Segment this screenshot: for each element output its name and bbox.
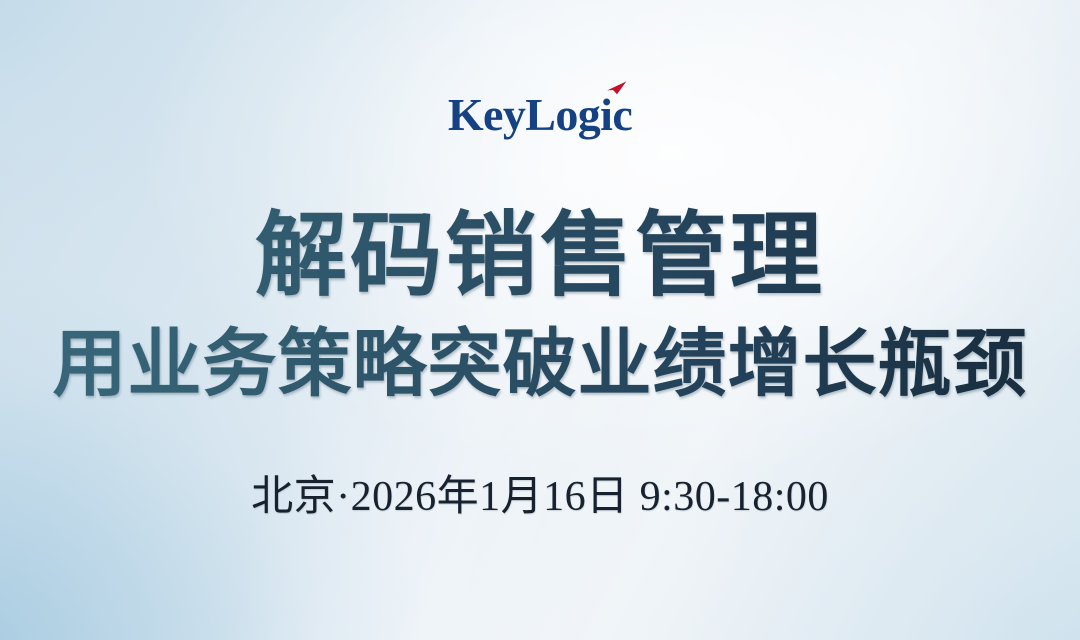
event-meta: 北京·2026年1月16日 9:30-18:00 <box>0 472 1080 522</box>
headline-block: 解码销售管理 用业务策略突破业绩增长瓶颈 <box>0 204 1080 407</box>
event-banner: KeyLogic 解码销售管理 用业务策略突破业绩增长瓶颈 北京·2026年1月… <box>0 0 1080 640</box>
brand-logo-wrap: KeyLogic <box>448 92 632 138</box>
event-location-datetime: 北京·2026年1月16日 9:30-18:00 <box>0 472 1080 522</box>
page-subtitle: 用业务策略突破业绩增长瓶颈 <box>0 323 1080 407</box>
banner-content: KeyLogic 解码销售管理 用业务策略突破业绩增长瓶颈 北京·2026年1月… <box>0 0 1080 640</box>
brand-logo-text: KeyLogic <box>448 92 632 138</box>
brand-logo: KeyLogic <box>0 82 1080 138</box>
page-title: 解码销售管理 <box>0 204 1080 309</box>
